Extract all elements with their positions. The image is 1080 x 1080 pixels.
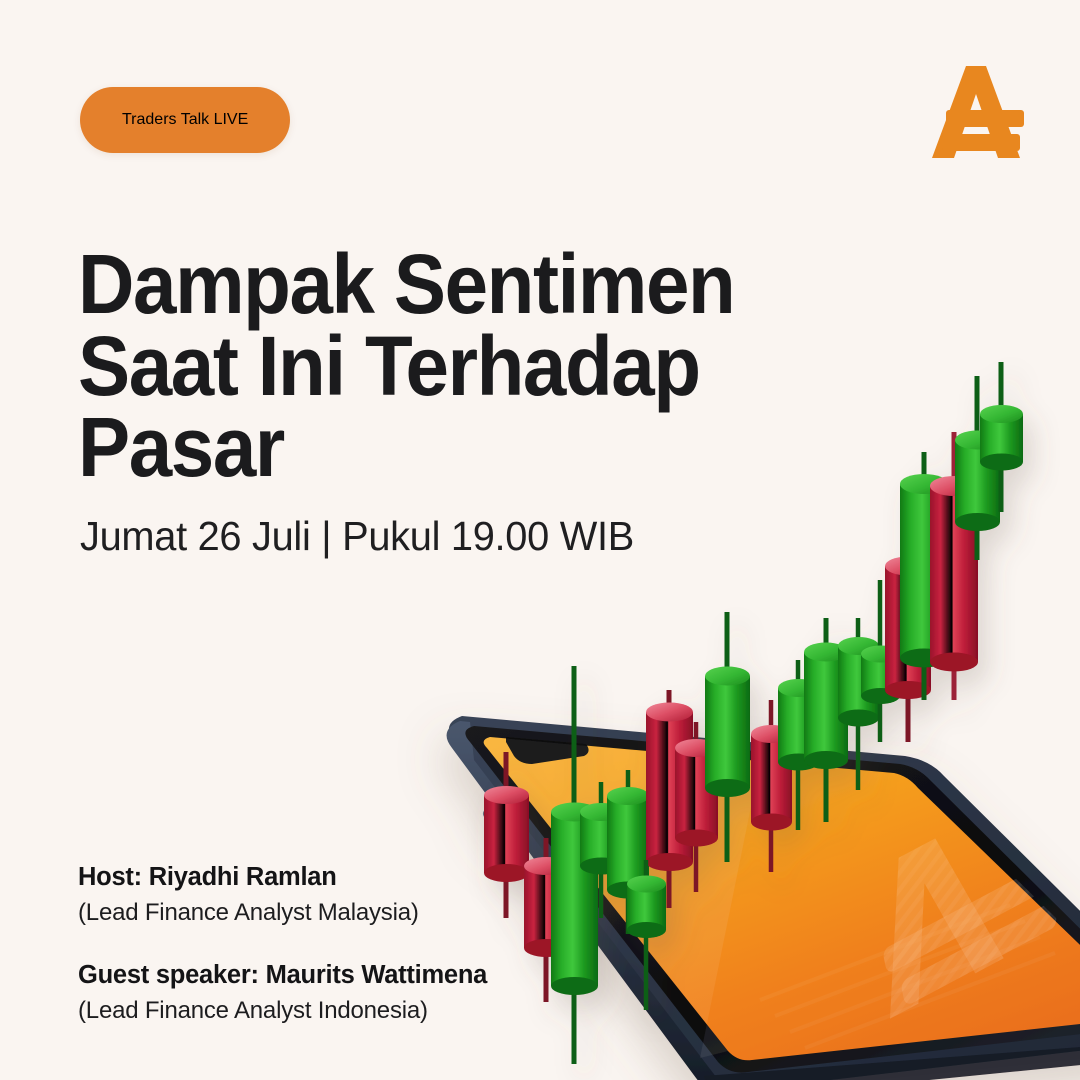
headline-line-2: Saat Ini Terhadap xyxy=(78,326,766,407)
candle-bullish xyxy=(551,666,598,1064)
candle-bullish xyxy=(627,860,666,1010)
phone-bottom-edge xyxy=(704,1040,1080,1080)
phone-screen xyxy=(484,737,1080,1060)
host-entry: Host: Riyadhi Ramlan (Lead Finance Analy… xyxy=(78,862,548,928)
event-datetime: Jumat 26 Juli | Pukul 19.00 WIB xyxy=(80,513,634,560)
candle-bullish xyxy=(955,376,1000,560)
phone-volume-button xyxy=(481,806,526,840)
candle-bearish xyxy=(885,540,931,742)
candle-bullish xyxy=(980,362,1023,512)
promo-poster: Traders Talk LIVE Dampak Sentimen Saat I… xyxy=(0,0,1080,1080)
phone-notch xyxy=(506,737,589,764)
candle-bullish xyxy=(900,452,948,700)
page-title: Dampak Sentimen Saat Ini Terhadap Pasar xyxy=(78,244,766,488)
host-name: Host: Riyadhi Ramlan xyxy=(78,862,548,894)
candle-bullish xyxy=(838,618,879,790)
candle-bullish xyxy=(580,782,623,918)
candle-bullish xyxy=(705,612,750,862)
candle-bearish xyxy=(930,432,978,700)
headline-line-3: Pasar xyxy=(78,407,766,488)
candle-bearish xyxy=(675,722,718,892)
guest-speaker-name: Guest speaker: Maurits Wattimena xyxy=(78,960,548,992)
candle-bullish xyxy=(804,618,848,822)
candle-bullish xyxy=(607,770,649,934)
host-role: (Lead Finance Analyst Malaysia) xyxy=(78,897,548,928)
live-badge-label: Traders Talk LIVE xyxy=(122,111,248,129)
screen-logo-watermark xyxy=(760,789,1059,1048)
phone-bezel xyxy=(465,726,1080,1073)
live-badge: Traders Talk LIVE xyxy=(80,87,290,153)
headline-line-1: Dampak Sentimen xyxy=(78,244,766,325)
candle-bullish xyxy=(861,580,900,742)
candle-bullish xyxy=(778,660,819,830)
guest-speaker-role: (Lead Finance Analyst Indonesia) xyxy=(78,995,548,1026)
candle-bearish xyxy=(751,700,792,872)
candle-bearish xyxy=(646,690,693,908)
guest-speaker-entry: Guest speaker: Maurits Wattimena (Lead F… xyxy=(78,960,548,1026)
letter-a-logo-icon xyxy=(920,58,1032,168)
speakers-block: Host: Riyadhi Ramlan (Lead Finance Analy… xyxy=(78,862,548,1026)
